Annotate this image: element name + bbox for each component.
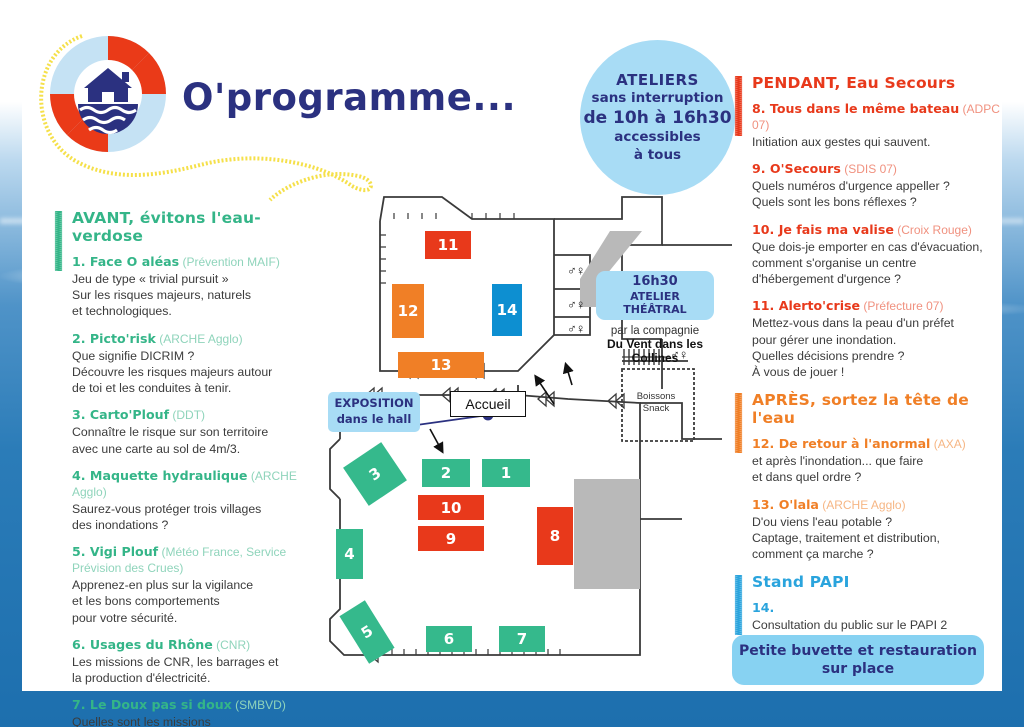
accueil-label: Accueil xyxy=(450,391,526,417)
program-item-title: 2. Picto'risk (ARCHE Agglo) xyxy=(72,331,322,347)
program-item-description: Que dois-je emporter en cas d'évacuation… xyxy=(752,239,1002,288)
program-item: 11. Alerto'crise (Préfecture 07)Mettez-v… xyxy=(752,298,1002,380)
section-title-pendant: PENDANT, Eau Secours xyxy=(752,74,1002,92)
map-stand-11[interactable]: 11 xyxy=(425,231,471,259)
venue-floorplan: ♂♀ ♂♀ ♂♀ ♂♀ 16h30 ATELIER THÉÂTRAL par l… xyxy=(322,189,732,689)
atelier-theatral-block: 16h30 ATELIER THÉÂTRAL par la compagnie … xyxy=(596,271,714,365)
buvette-banner: Petite buvette et restauration sur place xyxy=(732,635,984,685)
program-item-description: et après l'inondation... que faireet dan… xyxy=(752,453,1002,485)
floorplan-walls xyxy=(322,189,732,689)
description-line: et dans quel ordre ? xyxy=(752,469,1002,485)
program-item-organisation: (ARCHE Agglo) xyxy=(819,498,906,512)
expo-line2: dans le hall xyxy=(337,412,412,428)
program-item-title: 14. xyxy=(752,600,1002,616)
program-item-description: Les missions de CNR, les barrages etla p… xyxy=(72,654,322,686)
wc-icon: ♂♀ xyxy=(567,297,585,312)
wc-icon: ♂♀ xyxy=(567,263,585,278)
program-item-description: D'ou viens l'eau potable ?Captage, trait… xyxy=(752,514,1002,563)
theatre-time: 16h30 xyxy=(600,274,710,290)
section-title-papi: Stand PAPI xyxy=(752,573,1002,591)
section-apres: APRÈS, sortez la tête de l'eau12. De ret… xyxy=(732,391,1002,562)
section-title-apres: APRÈS, sortez la tête de l'eau xyxy=(752,391,1002,427)
program-item-title: 1. Face O aléas (Prévention MAIF) xyxy=(72,254,322,270)
description-line: pour votre sécurité. xyxy=(72,610,322,626)
description-line: Quelles décisions prendre ? xyxy=(752,348,1002,364)
program-item-description: Mettez-vous dans la peau d'un préfetpour… xyxy=(752,315,1002,380)
description-line: Quels numéros d'urgence appeller ? xyxy=(752,178,1002,194)
program-item: 6. Usages du Rhône (CNR)Les missions de … xyxy=(72,637,322,686)
program-item-description: Initiation aux gestes qui sauvent. xyxy=(752,134,1002,150)
program-item-title: 5. Vigi Plouf (Météo France, Service Pré… xyxy=(72,544,322,576)
program-item: 10. Je fais ma valise (Croix Rouge)Que d… xyxy=(752,222,1002,288)
program-item-title: 11. Alerto'crise (Préfecture 07) xyxy=(752,298,1002,314)
program-item: 2. Picto'risk (ARCHE Agglo)Que signifie … xyxy=(72,331,322,397)
program-item-title: 6. Usages du Rhône (CNR) xyxy=(72,637,322,653)
program-item: 8. Tous dans le même bateau (ADPC 07)Ini… xyxy=(752,101,1002,150)
description-line: et les bons comportements xyxy=(72,593,322,609)
program-item-organisation: (CNR) xyxy=(213,638,250,652)
program-item-description: Quelles sont les missionsdes syndicats d… xyxy=(72,714,322,727)
description-line: et technologiques. xyxy=(72,303,322,319)
description-line: comment s'organise un centre xyxy=(752,255,1002,271)
program-item-organisation: (Croix Rouge) xyxy=(894,223,972,237)
map-stand-10[interactable]: 10 xyxy=(418,495,484,520)
program-item-title: 10. Je fais ma valise (Croix Rouge) xyxy=(752,222,1002,238)
ateliers-bubble: ATELIERS sans interruption de 10h à 16h3… xyxy=(580,40,735,195)
program-item: 13. O'lala (ARCHE Agglo)D'ou viens l'eau… xyxy=(752,497,1002,563)
ateliers-line3: de 10h à 16h30 xyxy=(583,108,731,130)
program-item-description: Jeu de type « trivial pursuit »Sur les r… xyxy=(72,271,322,320)
description-line: Consultation du public sur le PAPI 2 xyxy=(752,617,1002,633)
section-title-avant: AVANT, évitons l'eau-verdose xyxy=(72,209,322,245)
map-stand-12[interactable]: 12 xyxy=(392,284,424,338)
expo-line1: EXPOSITION xyxy=(334,396,413,412)
section-pendant: PENDANT, Eau Secours8. Tous dans le même… xyxy=(732,74,1002,380)
section-zigzag-ribbon xyxy=(734,575,743,635)
program-item-description: Connaître le risque sur son territoireav… xyxy=(72,424,322,456)
snack-line1: Boissons xyxy=(626,391,686,403)
program-item-organisation: (Préfecture 07) xyxy=(860,299,943,313)
exposition-callout: EXPOSITION dans le hall xyxy=(328,392,420,432)
atelier-theatral-badge: 16h30 ATELIER THÉÂTRAL xyxy=(596,271,714,320)
program-item-description: Que signifie DICRIM ?Découvre les risque… xyxy=(72,348,322,397)
description-line: Saurez-vous protéger trois villages xyxy=(72,501,322,517)
buvette-line1: Petite buvette et restauration xyxy=(739,642,977,660)
description-line: Quels sont les bons réflexes ? xyxy=(752,194,1002,210)
description-line: Captage, traitement et distribution, xyxy=(752,530,1002,546)
description-line: Mettez-vous dans la peau d'un préfet xyxy=(752,315,1002,331)
description-line: Les missions de CNR, les barrages et xyxy=(72,654,322,670)
map-stand-8[interactable]: 8 xyxy=(537,507,573,565)
section-zigzag-ribbon xyxy=(734,76,743,136)
ateliers-line1: ATELIERS xyxy=(616,71,699,90)
description-line: Initiation aux gestes qui sauvent. xyxy=(752,134,1002,150)
ateliers-line5: à tous xyxy=(634,147,681,164)
map-stand-13[interactable]: 13 xyxy=(398,352,484,378)
description-line: Jeu de type « trivial pursuit » xyxy=(72,271,322,287)
description-line: Découvre les risques majeurs autour xyxy=(72,364,322,380)
program-item-organisation: (SMBVD) xyxy=(232,698,286,712)
program-item-organisation: (Prévention MAIF) xyxy=(179,255,280,269)
theatre-sub1: par la compagnie xyxy=(596,325,714,337)
section-avant: AVANT, évitons l'eau-verdose1. Face O al… xyxy=(52,209,322,727)
description-line: Que dois-je emporter en cas d'évacuation… xyxy=(752,239,1002,255)
program-item: 5. Vigi Plouf (Météo France, Service Pré… xyxy=(72,544,322,626)
program-item-organisation: (SDIS 07) xyxy=(841,162,897,176)
program-item-title: 9. O'Secours (SDIS 07) xyxy=(752,161,1002,177)
program-item: 3. Carto'Plouf (DDT)Connaître le risque … xyxy=(72,407,322,456)
program-item-organisation: (ADPC 07) xyxy=(752,102,1000,132)
map-stand-1[interactable]: 1 xyxy=(482,459,530,487)
theatre-title: ATELIER THÉÂTRAL xyxy=(600,290,710,317)
description-line: Apprenez-en plus sur la vigilance xyxy=(72,577,322,593)
program-item-description: Apprenez-en plus sur la vigilanceet les … xyxy=(72,577,322,626)
ateliers-line2: sans interruption xyxy=(592,90,724,107)
lifebuoy-house-logo xyxy=(44,30,172,158)
program-item: 4. Maquette hydraulique (ARCHE Agglo)Sau… xyxy=(72,468,322,533)
description-line: des inondations ? xyxy=(72,517,322,533)
page-title: O'programme... xyxy=(182,76,516,119)
map-stand-14[interactable]: 14 xyxy=(492,284,522,336)
theatre-sub2: Du Vent dans les Collines xyxy=(596,337,714,366)
program-item-organisation: (ARCHE Agglo) xyxy=(72,469,297,499)
program-item-description: Saurez-vous protéger trois villagesdes i… xyxy=(72,501,322,533)
program-item-title: 3. Carto'Plouf (DDT) xyxy=(72,407,322,423)
program-item-organisation: (Météo France, Service Prévision des Cru… xyxy=(72,545,286,575)
description-line: Que signifie DICRIM ? xyxy=(72,348,322,364)
program-item-organisation: (AXA) xyxy=(930,437,965,451)
program-item-title: 7. Le Doux pas si doux (SMBVD) xyxy=(72,697,322,713)
content-card: O'programme... ATELIERS sans interruptio… xyxy=(22,14,1002,691)
description-line: et après l'inondation... que faire xyxy=(752,453,1002,469)
map-stand-2[interactable]: 2 xyxy=(422,459,470,487)
description-line: D'ou viens l'eau potable ? xyxy=(752,514,1002,530)
description-line: avec une carte au sol de 4m/3. xyxy=(72,441,322,457)
program-item: 9. O'Secours (SDIS 07)Quels numéros d'ur… xyxy=(752,161,1002,210)
buvette-line2: sur place xyxy=(739,660,977,678)
left-column: AVANT, évitons l'eau-verdose1. Face O al… xyxy=(52,209,322,727)
program-item-description: Quels numéros d'urgence appeller ?Quels … xyxy=(752,178,1002,210)
map-stand-6[interactable]: 6 xyxy=(426,626,472,652)
description-line: d'hébergement d'urgence ? xyxy=(752,271,1002,287)
program-item: 7. Le Doux pas si doux (SMBVD)Quelles so… xyxy=(72,697,322,727)
snack-label: Boissons Snack xyxy=(626,391,686,415)
program-item-title: 13. O'lala (ARCHE Agglo) xyxy=(752,497,1002,513)
program-item-organisation: (DDT) xyxy=(169,408,205,422)
snack-line2: Snack xyxy=(626,403,686,415)
map-stand-7[interactable]: 7 xyxy=(499,626,545,652)
description-line: comment ça marche ? xyxy=(752,546,1002,562)
description-line: Sur les risques majeurs, naturels xyxy=(72,287,322,303)
map-stand-4[interactable]: 4 xyxy=(336,529,363,579)
program-item: 1. Face O aléas (Prévention MAIF)Jeu de … xyxy=(72,254,322,320)
right-column: PENDANT, Eau Secours8. Tous dans le même… xyxy=(732,74,1002,660)
wc-icon: ♂♀ xyxy=(567,321,585,336)
program-item-title: 8. Tous dans le même bateau (ADPC 07) xyxy=(752,101,1002,133)
poster-page: O'programme... ATELIERS sans interruptio… xyxy=(0,0,1024,727)
program-item-organisation: (ARCHE Agglo) xyxy=(156,332,243,346)
description-line: la production d'électricité. xyxy=(72,670,322,686)
section-zigzag-ribbon xyxy=(734,393,743,453)
description-line: Connaître le risque sur son territoire xyxy=(72,424,322,440)
map-stand-9[interactable]: 9 xyxy=(418,526,484,551)
program-item: 12. De retour à l'anormal (AXA)et après … xyxy=(752,436,1002,485)
section-zigzag-ribbon xyxy=(54,211,63,271)
description-line: de toi et les conduites à tenir. xyxy=(72,380,322,396)
program-item-title: 4. Maquette hydraulique (ARCHE Agglo) xyxy=(72,468,322,500)
description-line: Quelles sont les missions xyxy=(72,714,322,727)
program-item-title: 12. De retour à l'anormal (AXA) xyxy=(752,436,1002,452)
description-line: À vous de jouer ! xyxy=(752,364,1002,380)
ateliers-line4: accessibles xyxy=(614,129,700,146)
description-line: pour gérer une inondation. xyxy=(752,332,1002,348)
